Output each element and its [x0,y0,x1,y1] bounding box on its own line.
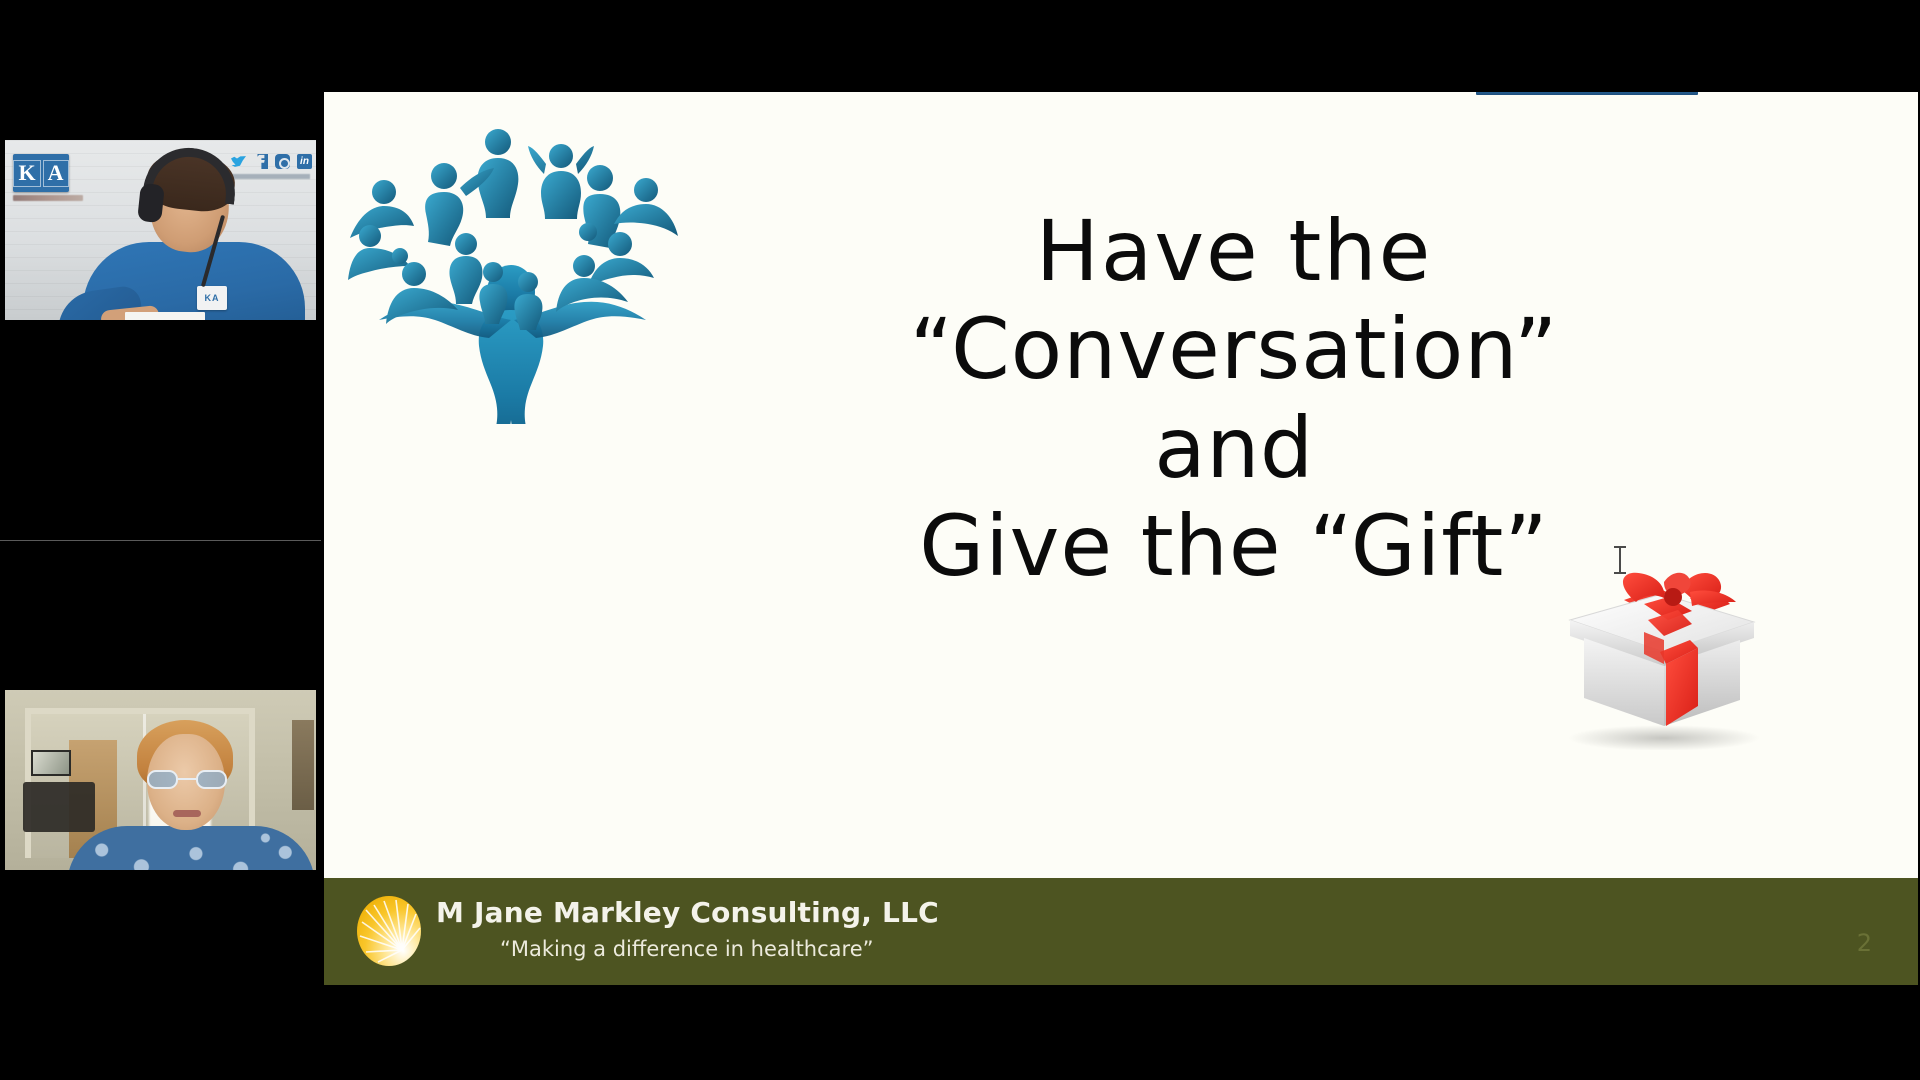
participant-tile-presenter-2[interactable] [0,541,321,1080]
linkedin-icon [297,154,312,169]
tree-of-people-logo [348,114,678,424]
headline-line-3: and [654,399,1814,497]
presenter-1-badge [197,286,227,310]
eyeglasses-icon [147,770,227,790]
slide-headline: Have the “Conversation” and Give the “Gi… [654,202,1814,595]
ka-logo-letter-k: K [13,160,40,187]
presentation-toolbar-edge[interactable] [1476,92,1698,95]
screen-share-window: KA [0,0,1920,1080]
eyeglass-bridge [178,778,196,780]
slide-number: 2 [1857,929,1872,957]
presenter-2-mouth [173,810,201,817]
headline-line-2: “Conversation” [654,300,1814,398]
gift-box-image [1540,564,1776,750]
dark-furniture [23,782,95,832]
slide-footer: M Jane Markley Consulting, LLC “Making a… [324,878,1918,985]
presenter-1-paper [125,312,205,320]
presenter-2-torso [67,826,315,870]
headline-line-1: Have the [654,202,1814,300]
facebook-icon [253,154,268,169]
twitter-icon [231,154,246,169]
social-handle-text [230,174,310,179]
wall-frame [292,720,314,810]
headphone-earcup [137,183,165,223]
shared-slide[interactable]: Have the “Conversation” and Give the “Gi… [324,92,1918,985]
participant-sidebar: KA [0,0,321,1080]
eyeglass-lens-left [147,770,178,789]
video-feed-presenter-1[interactable]: KA [5,140,316,320]
company-name: M Jane Markley Consulting, LLC [436,896,939,929]
ka-brand-logo: KA [13,154,69,192]
company-tagline: “Making a difference in healthcare” [500,937,939,961]
ka-logo-subtitle [13,195,83,201]
social-icon-row [231,154,312,169]
participant-tile-presenter-1[interactable]: KA [0,0,321,540]
eyeglass-lens-right [196,770,227,789]
instagram-icon [275,154,290,169]
ka-logo-letter-a: A [43,160,69,187]
shell-sunburst-logo [352,894,426,968]
video-feed-presenter-2[interactable] [5,690,316,870]
tv-screen [31,750,71,776]
footer-text-block: M Jane Markley Consulting, LLC “Making a… [436,896,939,961]
